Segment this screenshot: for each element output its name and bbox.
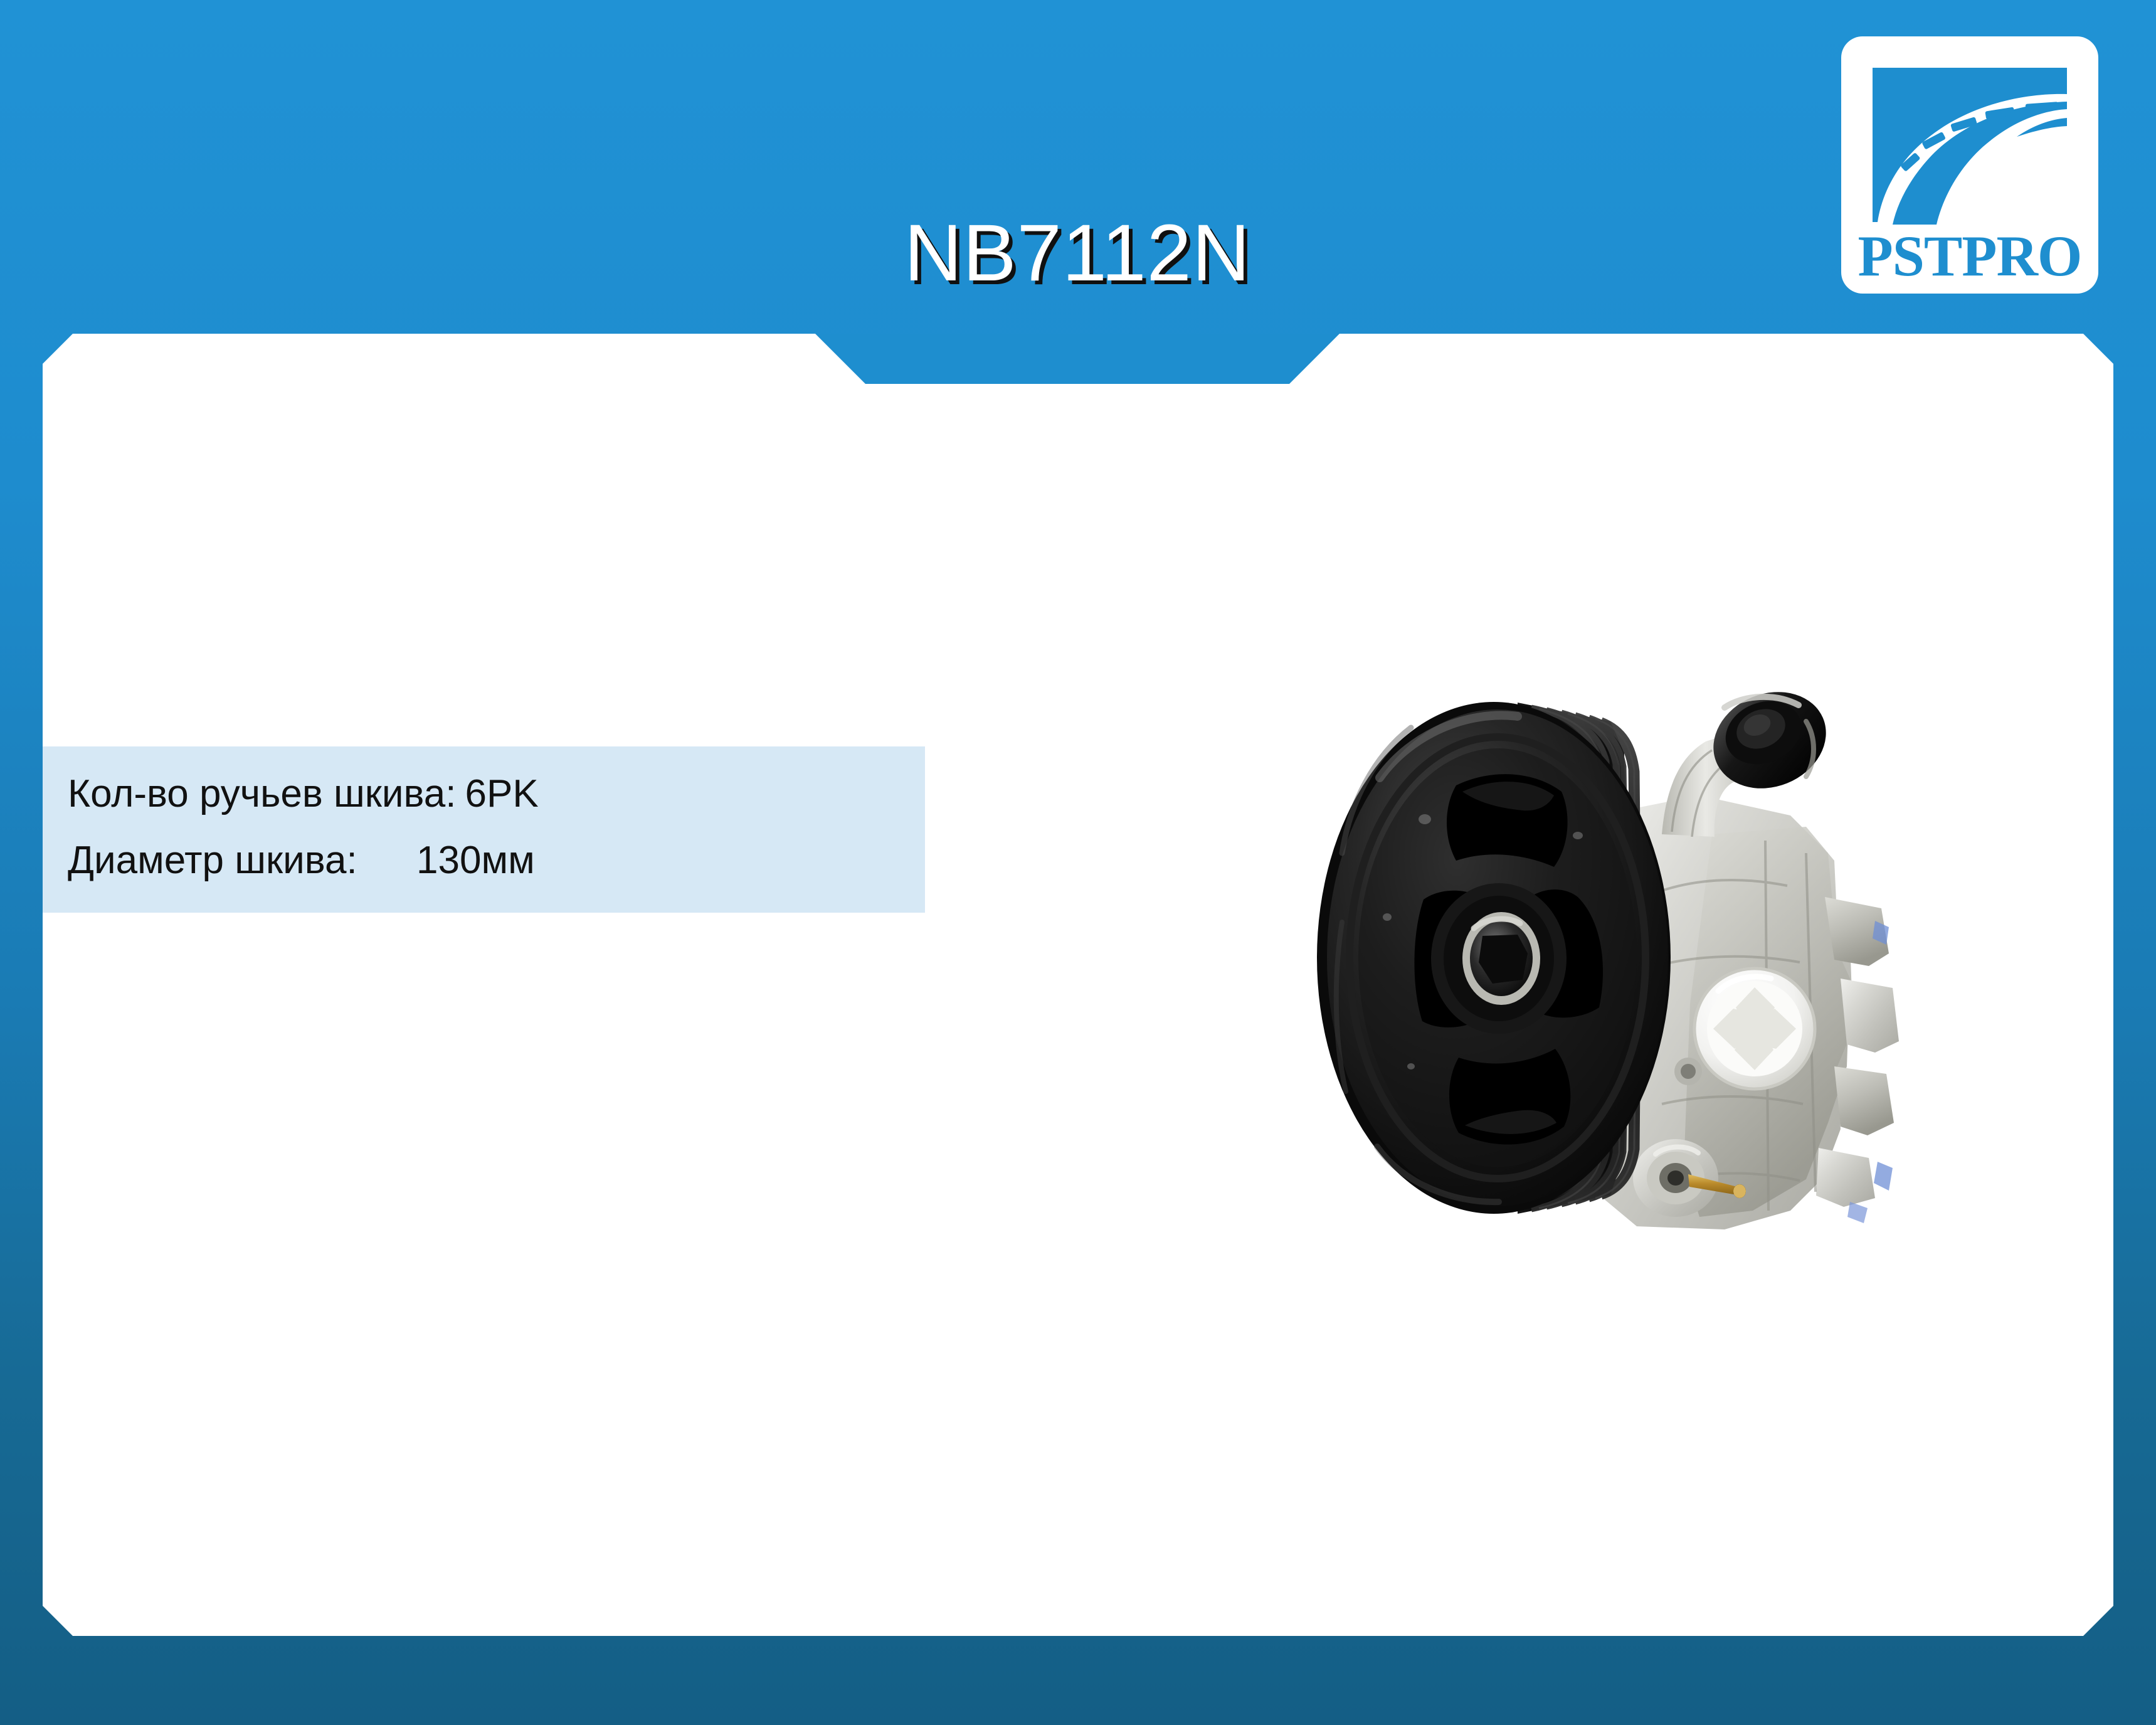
white-plastic-fitting — [1694, 969, 1815, 1089]
spec-value: 6PK — [465, 772, 539, 816]
page-title: NB7112N — [815, 213, 1340, 294]
brand-logo: PSTPRO — [1841, 36, 2098, 294]
pulley-hub — [1431, 883, 1567, 1034]
pulley-disc — [1317, 702, 1671, 1214]
bolt-boss — [1674, 1058, 1702, 1085]
spec-row: Диаметр шкива: 130мм — [68, 838, 535, 883]
spec-row: Кол-во ручьев шкива: 6PK — [68, 772, 539, 816]
specifications-box: Кол-во ручьев шкива: 6PK Диаметр шкива: … — [43, 746, 925, 913]
spec-value: 130мм — [416, 838, 535, 883]
logo-wordmark: PSTPRO — [1841, 227, 2098, 285]
title-banner-text-wrap: NB7112N — [815, 273, 1340, 384]
spec-label: Кол-во ручьев шкива: — [68, 772, 457, 816]
power-steering-pump-photo — [1223, 627, 1913, 1286]
road-bridge-icon — [1869, 64, 2071, 226]
spec-label: Диаметр шкива: — [68, 838, 416, 883]
product-image — [1223, 627, 1913, 1286]
